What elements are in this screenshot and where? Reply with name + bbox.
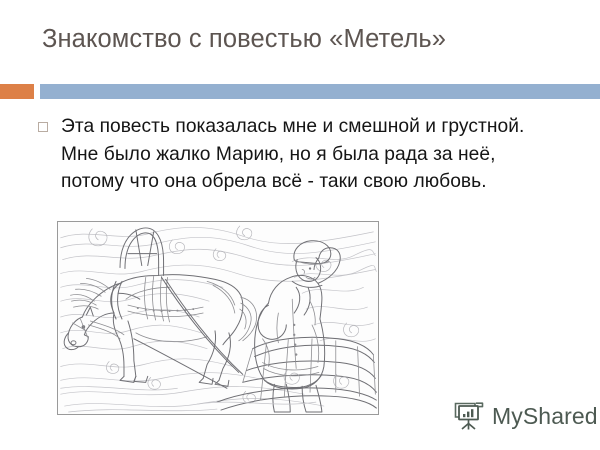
divider-accent-block [0, 84, 34, 99]
body-paragraph: Эта повесть показалась мне и смешной и г… [61, 113, 554, 196]
presentation-chart-icon [452, 399, 486, 432]
square-bullet-icon [38, 122, 48, 132]
title-divider [0, 84, 600, 99]
presentation-slide: Знакомство с повестью «Метель» Эта повес… [0, 0, 600, 450]
illustration-image: .ln { fill:none; stroke:#8e8e92; stroke-… [57, 221, 379, 415]
body-bullet-item: Эта повесть показалась мне и смешной и г… [38, 113, 554, 196]
page-title: Знакомство с повестью «Метель» [42, 23, 582, 55]
watermark-text: MyShared [492, 403, 598, 429]
watermark-logo: MyShared [452, 399, 598, 432]
divider-bar [40, 84, 600, 99]
